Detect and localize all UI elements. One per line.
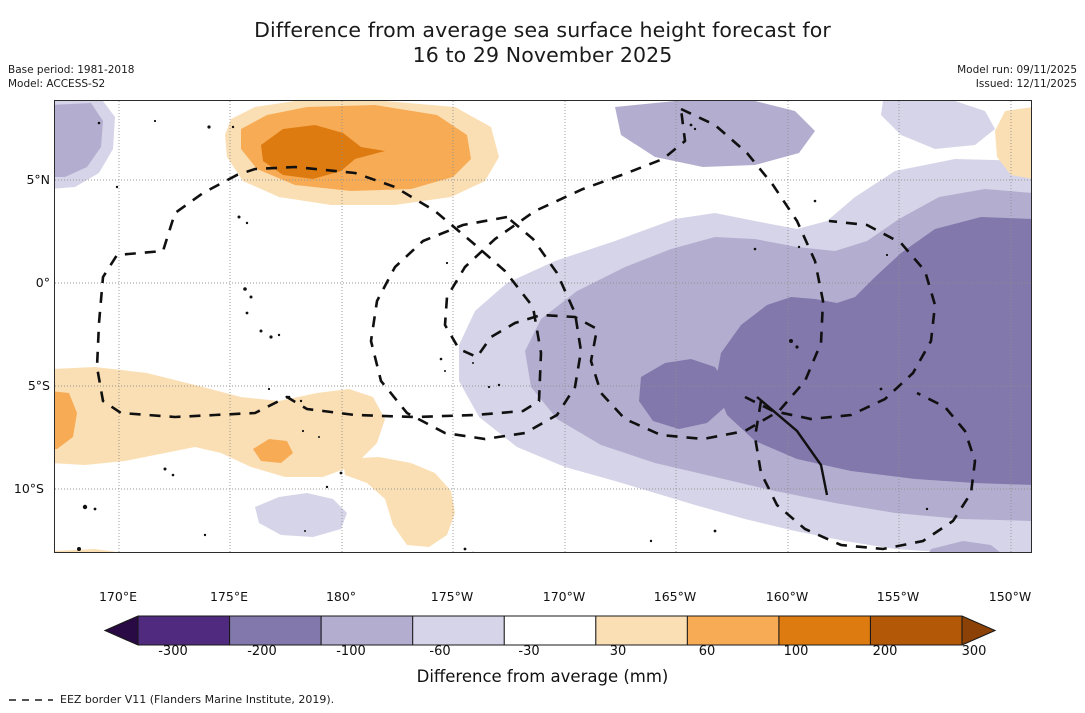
model-text: Model: ACCESS-S2 [8, 77, 134, 91]
xtick-label-170E: 170°E [83, 589, 153, 604]
metadata-left: Base period: 1981-2018 Model: ACCESS-S2 [8, 63, 134, 91]
dashed-line-icon [8, 694, 54, 705]
xtick-label-155W: 155°W [863, 589, 933, 604]
colorbar-segment [870, 616, 962, 645]
issued-text: Issued: 12/11/2025 [957, 77, 1077, 91]
colorbar-tick--100: -100 [316, 644, 386, 659]
xtick-label-165W: 165°W [640, 589, 710, 604]
colorbar-tick-60: 60 [672, 644, 742, 659]
colorbar-tick-30: 30 [583, 644, 653, 659]
metadata-right: Model run: 09/11/2025 Issued: 12/11/2025 [957, 63, 1077, 91]
sea-surface-height-anomaly-map [55, 101, 1032, 553]
colorbar-arrow-low [105, 616, 138, 645]
xtick-label-160W: 160°W [752, 589, 822, 604]
ytick-label-10S: 10°S [0, 481, 44, 496]
colorbar-tick--200: -200 [227, 644, 297, 659]
colorbar [0, 612, 1085, 672]
base-period-text: Base period: 1981-2018 [8, 63, 134, 77]
xtick-label-170W: 170°W [529, 589, 599, 604]
title-line-2: 16 to 29 November 2025 [0, 43, 1085, 68]
page-title: Difference from average sea surface heig… [0, 18, 1085, 68]
xtick-label-150W: 150°W [975, 589, 1045, 604]
colorbar-tick--60: -60 [405, 644, 475, 659]
xtick-label-180: 180° [306, 589, 376, 604]
colorbar-segment [321, 616, 413, 645]
colorbar-tick-100: 100 [761, 644, 831, 659]
ytick-label-5N: 5°N [4, 172, 50, 187]
colorbar-tick-300: 300 [939, 644, 1009, 659]
title-line-1: Difference from average sea surface heig… [254, 18, 831, 42]
eez-legend: EEZ border V11 (Flanders Marine Institut… [8, 693, 334, 706]
colorbar-segment [230, 616, 322, 645]
map-panel: © Commonwealth of Australia 2025, Bureau… [54, 100, 1032, 553]
ytick-label-0: 0° [4, 275, 50, 290]
colorbar-arrow-high [962, 616, 995, 645]
colorbar-tick--30: -30 [494, 644, 564, 659]
xtick-label-175E: 175°E [194, 589, 264, 604]
figure-root: Difference from average sea surface heig… [0, 0, 1085, 713]
colorbar-title: Difference from average (mm) [0, 667, 1085, 686]
colorbar-segment [138, 616, 230, 645]
colorbar-segment [504, 616, 596, 645]
xtick-label-175W: 175°W [417, 589, 487, 604]
ytick-label-5S: 5°S [4, 378, 50, 393]
colorbar-segment [596, 616, 688, 645]
colorbar-segment [413, 616, 505, 645]
colorbar-segment [779, 616, 871, 645]
colorbar-segment [687, 616, 779, 645]
eez-legend-label: EEZ border V11 (Flanders Marine Institut… [60, 693, 334, 706]
model-run-text: Model run: 09/11/2025 [957, 63, 1077, 77]
colorbar-tick-200: 200 [850, 644, 920, 659]
colorbar-tick--300: -300 [138, 644, 208, 659]
